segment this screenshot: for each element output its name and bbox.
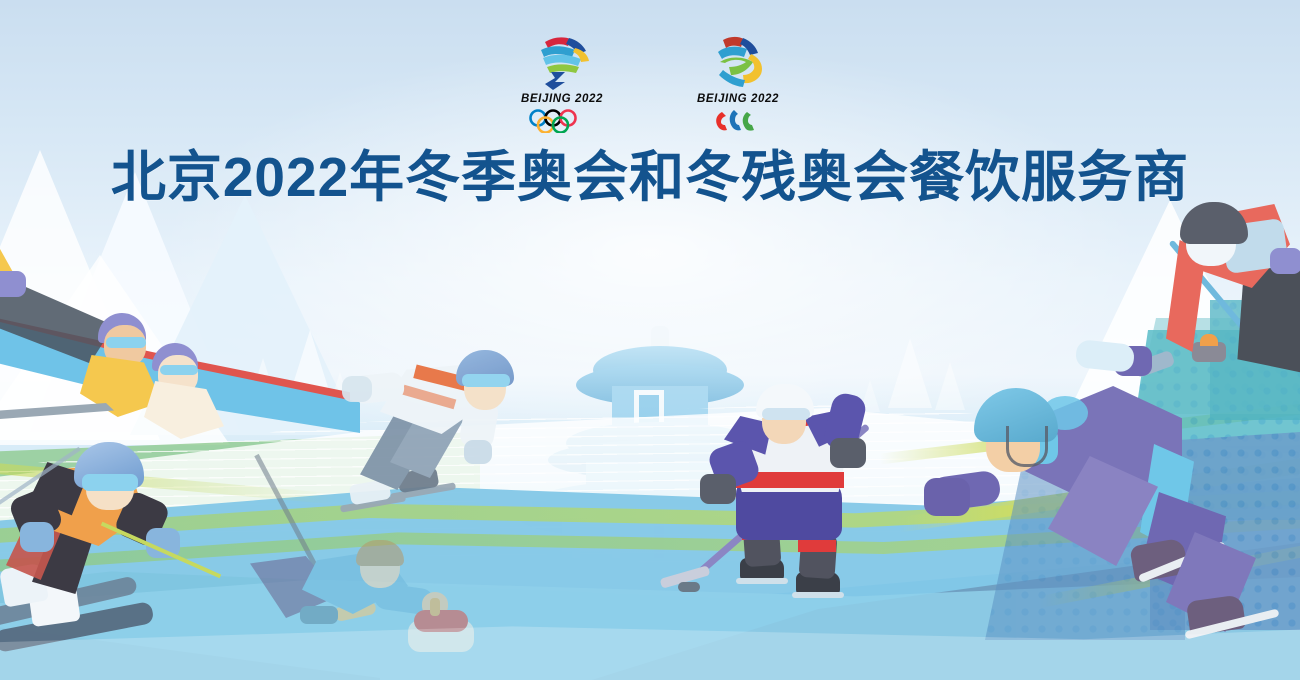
curler-shoe [300, 606, 338, 624]
athlete-ice-hockey-player [718, 386, 898, 606]
logo-olympic: BEIJING 2022 [507, 34, 617, 133]
hockey-skate-blade [792, 592, 844, 598]
hockey-sock-stripe [798, 540, 836, 552]
beijing-2022-olympic-emblem-icon [531, 34, 593, 90]
bobsleigh-runner [0, 403, 114, 437]
skater-glove-icon [924, 478, 970, 516]
athlete-bobsleigh-team [0, 165, 370, 455]
emblem-row: BEIJING 2022 [0, 34, 1300, 136]
beijing-2022-paralympic-emblem-icon [707, 34, 769, 90]
curler-glove-icon [1270, 248, 1300, 274]
curler-hair [356, 540, 404, 566]
olympic-rings-icon [526, 109, 598, 133]
hockey-glove-icon [700, 474, 736, 504]
beijing-2022-banner: BEIJING 2022 [0, 0, 1300, 680]
athlete-speed-skater-left [336, 348, 526, 538]
athlete-speed-skater-right [940, 382, 1240, 662]
hockey-visor-icon [762, 408, 810, 420]
skater-glove-icon [464, 440, 492, 464]
curling-stone-handle [430, 598, 440, 616]
athlete-curler-sweeper [1162, 186, 1300, 386]
logo-paralympic: BEIJING 2022 [683, 34, 793, 133]
athlete-alpine-skier [6, 440, 216, 660]
bobsleigh-athlete-glove-icon [0, 271, 26, 297]
hockey-glove-icon [830, 438, 866, 468]
skater-glove-icon [342, 376, 372, 402]
page-title: 北京2022年冬季奥会和冬残奥会餐饮服务商 [0, 146, 1300, 208]
bobsleigh-goggles-icon [106, 337, 146, 348]
hockey-skate-blade [736, 578, 788, 584]
logo-paralympic-wordmark: BEIJING 2022 [697, 93, 779, 105]
skier-goggles-icon [82, 474, 138, 491]
agitos-icon [710, 109, 766, 133]
logo-olympic-wordmark: BEIJING 2022 [521, 93, 603, 105]
skater-chinstrap-icon [1006, 426, 1048, 467]
curler-hair [1180, 202, 1248, 244]
skater-visor-icon [462, 374, 510, 387]
bobsleigh-goggles-icon [160, 365, 198, 375]
hockey-puck [678, 582, 700, 592]
skier-glove-icon [20, 522, 54, 552]
